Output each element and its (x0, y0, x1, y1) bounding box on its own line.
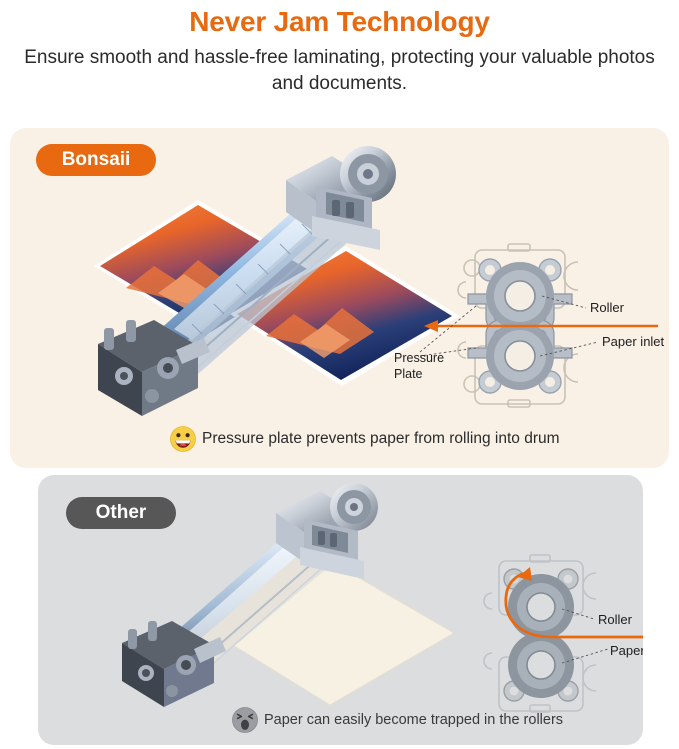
grinning-face-emoji (170, 426, 196, 452)
paper-inlet-label-bad: Paper inlet (610, 643, 643, 658)
roller-bottom-bad (508, 632, 574, 698)
laminator-machine-bad-illustration (114, 483, 459, 713)
other-panel: Other (38, 475, 643, 745)
caption-text-bad: Paper can easily become trapped in the r… (264, 712, 563, 728)
roller-diagram-bad: Roller Paper inlet (448, 545, 643, 725)
caption-row-good: Pressure plate prevents paper from rolli… (170, 426, 560, 452)
roller-top (486, 262, 554, 330)
page-title: Never Jam Technology (0, 6, 679, 38)
weary-face-emoji (232, 707, 258, 733)
roller-label-good: Roller (590, 300, 625, 315)
page-header: Never Jam Technology Ensure smooth and h… (0, 0, 679, 96)
roller-top-bad (508, 574, 574, 640)
roller-label-bad: Roller (598, 612, 633, 627)
roller-bottom (486, 322, 554, 390)
caption-row-bad: Paper can easily become trapped in the r… (232, 707, 563, 733)
roller-diagram-good: Roller Paper inlet Pressure Plate (390, 236, 669, 416)
pressure-plate-label-line1: Pressure (394, 351, 444, 365)
page-subtitle: Ensure smooth and hassle-free laminating… (0, 45, 679, 96)
paper-inlet-label-good: Paper inlet (602, 334, 665, 349)
bonsaii-panel: Bonsaii (10, 128, 669, 468)
laminator-machine-good-illustration (80, 138, 440, 428)
caption-text-good: Pressure plate prevents paper from rolli… (202, 430, 560, 448)
pressure-plate-label-line2: Plate (394, 367, 423, 381)
